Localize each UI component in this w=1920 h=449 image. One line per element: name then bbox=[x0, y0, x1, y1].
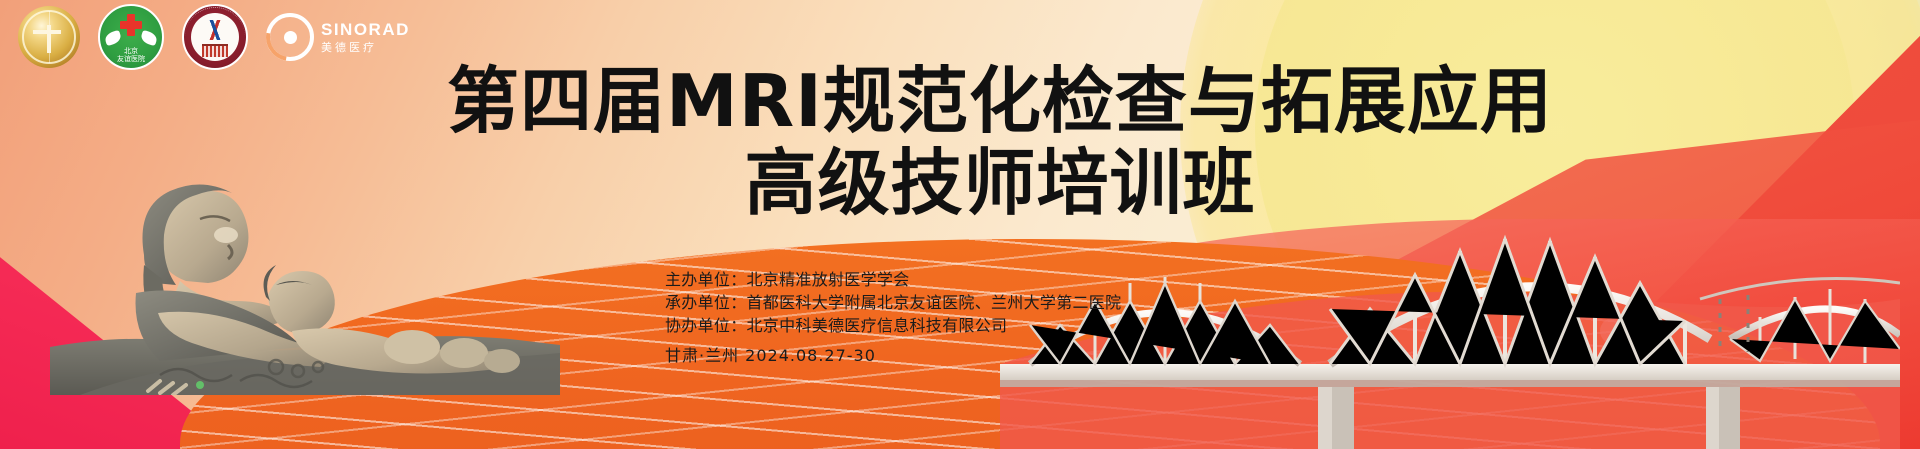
friendship-hospital-logo-label: 北京 友谊医院 bbox=[100, 47, 162, 63]
friendship-logo-line1: 北京 bbox=[124, 47, 138, 55]
organizer-info-block: 主办单位：北京精准放射医学学会 承办单位：首都医科大学附属北京友谊医院、兰州大学… bbox=[665, 268, 1121, 367]
organizer-line-host: 主办单位：北京精准放射医学学会 bbox=[665, 268, 1121, 291]
maroon-logo-building-icon bbox=[202, 44, 228, 57]
yellow-river-mother-statue-illustration bbox=[40, 95, 560, 395]
sinorad-wordmark: SINORAD 美德医疗 bbox=[321, 21, 410, 53]
sinorad-wordmark-cn: 美德医疗 bbox=[321, 42, 410, 53]
sponsor-logo-row: 北京 友谊医院 SINORAD 美德医疗 bbox=[18, 4, 410, 70]
sinorad-wordmark-en: SINORAD bbox=[321, 21, 410, 38]
sinorad-eye-icon bbox=[266, 13, 314, 61]
beijing-friendship-hospital-logo: 北京 友谊医院 bbox=[98, 4, 164, 70]
red-cross-icon bbox=[120, 21, 142, 29]
lanzhou-university-second-hospital-logo bbox=[182, 4, 248, 70]
sinorad-logo: SINORAD 美德医疗 bbox=[266, 6, 410, 68]
gold-logo-cross-horizontal bbox=[33, 30, 61, 34]
organizer-line-coorganize: 协办单位：北京中科美德医疗信息科技有限公司 bbox=[665, 314, 1121, 337]
organizer-line-undertake: 承办单位：首都医科大学附属北京友谊医院、兰州大学第二医院 bbox=[665, 291, 1121, 314]
event-place-date: 甘肃·兰州 2024.08.27-30 bbox=[665, 344, 1121, 367]
beijing-precision-radiology-society-logo bbox=[18, 6, 80, 68]
dove-icon bbox=[104, 30, 123, 46]
friendship-logo-line2: 友谊医院 bbox=[117, 55, 145, 63]
gold-logo-cross-vertical bbox=[47, 25, 51, 53]
dove-icon bbox=[140, 30, 159, 46]
zhongshan-bridge-illustration bbox=[1000, 149, 1900, 449]
maroon-logo-swirl-icon bbox=[204, 20, 226, 40]
conference-banner: 北京 友谊医院 SINORAD 美德医疗 第四届MRI规范化检查与拓展应用 高级… bbox=[0, 0, 1920, 449]
